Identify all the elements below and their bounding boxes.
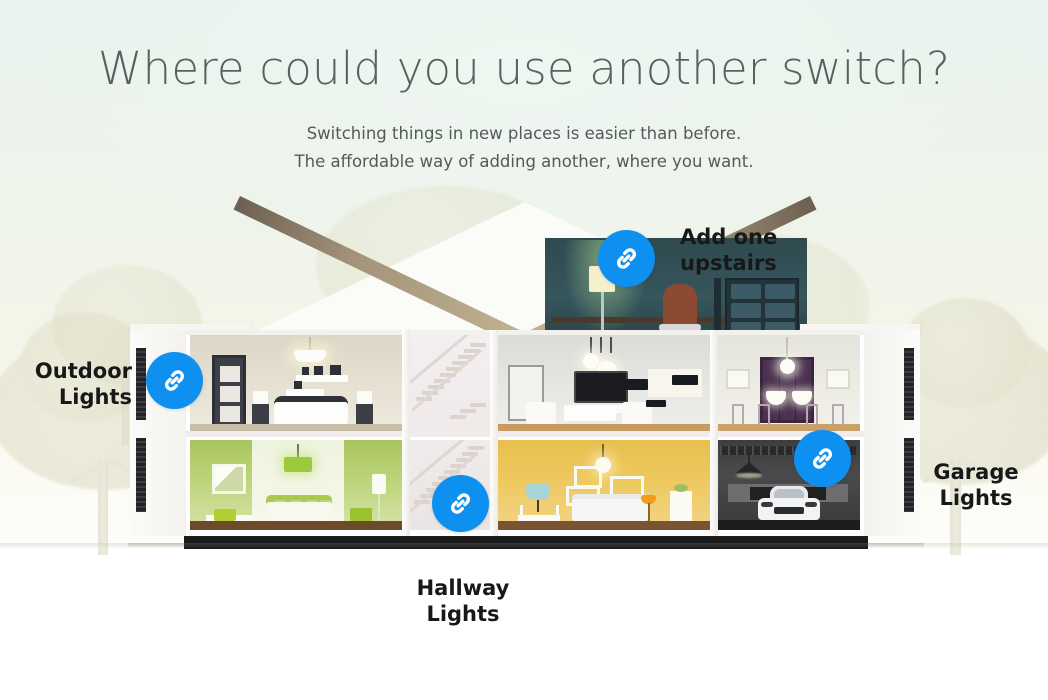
page-title: Where could you use another switch? bbox=[0, 42, 1048, 95]
yellow-table-lamp-icon bbox=[526, 484, 550, 500]
subtitle-line-1: Switching things in new places is easier… bbox=[0, 124, 1048, 143]
illustration-stage: Where could you use another switch? Swit… bbox=[0, 0, 1048, 700]
bedroom-door bbox=[212, 355, 246, 427]
room-stairwell-upper bbox=[404, 335, 494, 431]
callout-label-hallway-lights: Hallway Lights bbox=[400, 575, 526, 627]
room-dining-room bbox=[716, 335, 860, 431]
bedroom-bed bbox=[274, 402, 348, 424]
living-pendant-icon bbox=[583, 353, 599, 369]
bedroom-chandelier-icon bbox=[294, 350, 326, 362]
callout-label-hallway-lights-line1: Hallway bbox=[400, 575, 526, 601]
room-green-bedroom bbox=[190, 440, 402, 530]
room-living-room bbox=[498, 335, 710, 431]
link-icon bbox=[159, 365, 190, 396]
callout-label-garage-lights-line1: Garage bbox=[916, 459, 1036, 485]
living-tv bbox=[574, 371, 628, 403]
callout-label-add-one-upstairs-line1: Add one bbox=[680, 224, 860, 250]
yellow-sofa bbox=[572, 499, 648, 521]
subtitle-line-2: The affordable way of adding another, wh… bbox=[0, 152, 1048, 171]
green-bed bbox=[266, 502, 332, 521]
floor-divider bbox=[186, 431, 864, 437]
green-floor-lamp-icon bbox=[372, 474, 386, 494]
room-yellow-lounge bbox=[498, 440, 710, 530]
link-icon bbox=[807, 443, 838, 474]
link-badge-add-one-upstairs[interactable] bbox=[598, 230, 655, 287]
link-badge-outdoor-lights[interactable] bbox=[146, 352, 203, 409]
room-bedroom bbox=[190, 335, 402, 431]
green-pendant-icon bbox=[284, 457, 312, 472]
callout-label-outdoor-lights: Outdoor Lights bbox=[0, 358, 132, 410]
callout-label-add-one-upstairs: Add one upstairs bbox=[680, 224, 860, 276]
garage-car bbox=[758, 486, 820, 520]
garage-lamp-icon bbox=[736, 462, 762, 473]
link-badge-hallway-lights[interactable] bbox=[432, 475, 489, 532]
callout-label-outdoor-lights-line1: Outdoor bbox=[0, 358, 132, 384]
callout-label-outdoor-lights-line2: Lights bbox=[0, 384, 132, 410]
dining-chandelier-icon bbox=[780, 359, 795, 374]
green-mirror bbox=[212, 464, 246, 494]
callout-label-garage-lights: Garage Lights bbox=[916, 459, 1036, 511]
callout-label-add-one-upstairs-line2: upstairs bbox=[680, 250, 860, 276]
callout-label-garage-lights-line2: Lights bbox=[916, 485, 1036, 511]
house-body bbox=[186, 330, 864, 548]
callout-label-hallway-lights-line2: Lights bbox=[400, 601, 526, 627]
link-icon bbox=[445, 488, 476, 519]
exterior-wall-right bbox=[862, 330, 920, 536]
link-icon bbox=[611, 243, 642, 274]
link-badge-garage-lights[interactable] bbox=[794, 430, 851, 487]
